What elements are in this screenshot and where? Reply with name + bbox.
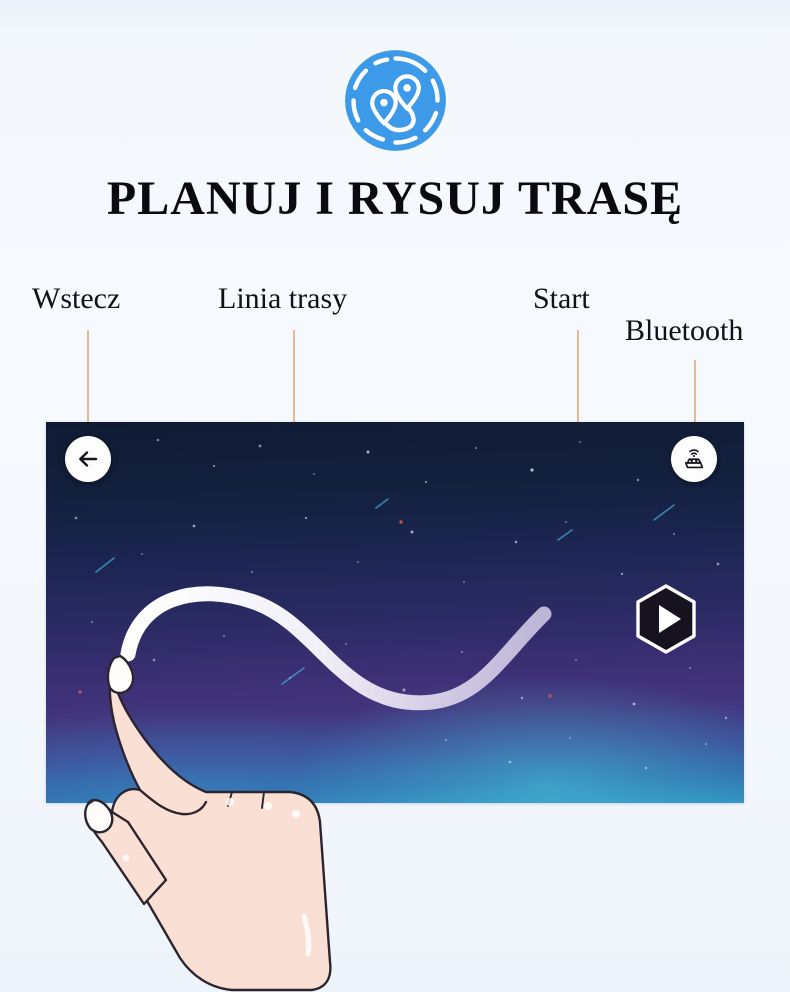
rc-car-signal-icon	[680, 445, 708, 473]
pointing-hand-illustration	[82, 616, 392, 992]
callout-label-linia-trasy: Linia trasy	[218, 284, 347, 314]
callout-label-bluetooth: Bluetooth	[625, 316, 743, 346]
start-button[interactable]	[634, 584, 698, 654]
bluetooth-button[interactable]	[671, 436, 717, 482]
logo-container	[0, 48, 790, 153]
back-button[interactable]	[65, 436, 111, 482]
callout-label-start: Start	[533, 284, 590, 314]
page-title: PLANUJ I RYSUJ TRASĘ	[0, 172, 790, 226]
callout-label-wstecz: Wstecz	[32, 284, 120, 314]
map-pins-route-icon	[343, 48, 448, 153]
play-icon	[634, 584, 698, 654]
arrow-left-icon	[76, 447, 100, 471]
